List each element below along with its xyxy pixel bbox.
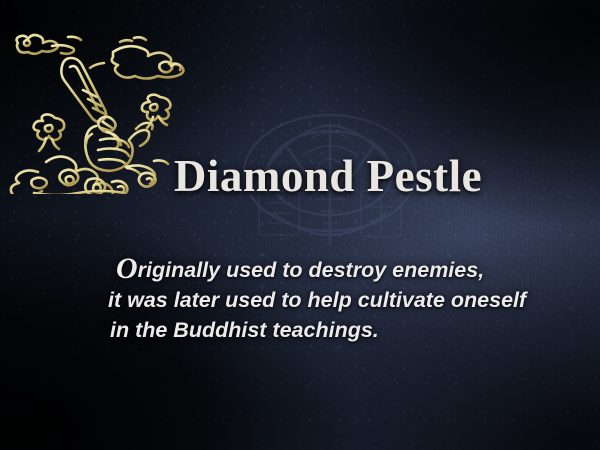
body-text-block: Originally used to destroy enemies, it w… — [96, 255, 566, 345]
cloud-motif-top-left — [17, 35, 81, 54]
slide-canvas: Diamond Pestle Originally used to destro… — [0, 0, 600, 450]
body-line-2: it was later used to help cultivate ones… — [96, 285, 566, 315]
body-line-3: in the Buddhist teachings. — [96, 315, 566, 345]
body-line-1: Originally used to destroy enemies, — [96, 255, 566, 285]
body-line-3-text: in the Buddhist teachings. — [110, 318, 379, 342]
body-line-2-text: it was later used to help cultivate ones… — [108, 288, 526, 312]
body-line-1-text: riginally used to destroy enemies, — [138, 258, 485, 282]
floral-sprig-left — [34, 114, 65, 151]
drop-cap: O — [116, 252, 138, 285]
cloud-motif-top-right — [90, 37, 183, 78]
page-title: Diamond Pestle — [0, 152, 600, 200]
